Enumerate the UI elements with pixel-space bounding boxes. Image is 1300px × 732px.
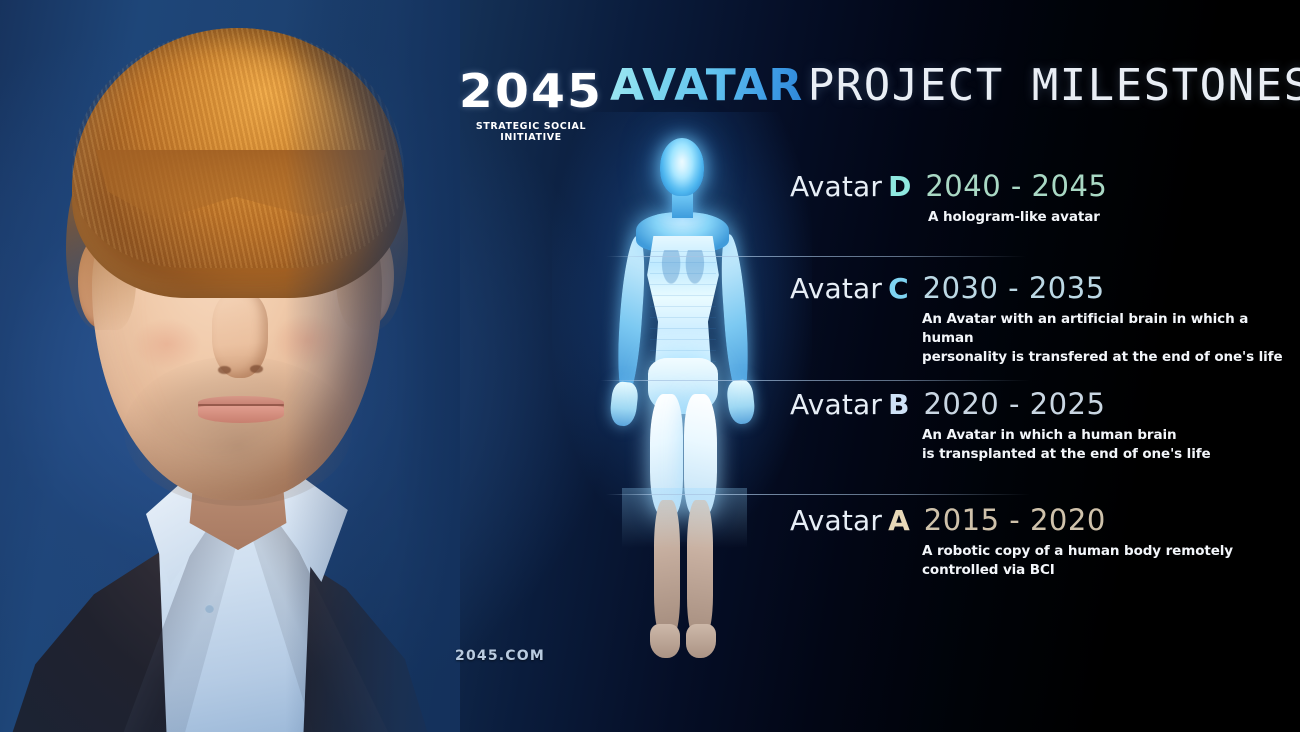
figure-hand-left <box>609 381 639 427</box>
logo-tagline: STRATEGIC SOCIAL INITIATIVE <box>456 121 606 143</box>
milestone-label: Avatar <box>790 170 882 203</box>
milestone-label: Avatar <box>790 272 882 305</box>
milestone-years: 2015 - 2020 <box>924 503 1106 537</box>
milestone-row-avatar-c[interactable]: AvatarC2030 - 2035 An Avatar with an art… <box>790 274 1300 367</box>
divider-line-b-a <box>606 494 1030 495</box>
milestone-row-avatar-b[interactable]: AvatarB2020 - 2025 An Avatar in which a … <box>790 390 1211 464</box>
figure-arm-right <box>718 233 751 398</box>
mouth-line <box>198 404 284 406</box>
figure-hand-right <box>726 379 756 425</box>
figure-torso-anatomy-detail <box>650 250 716 362</box>
nostril-left <box>218 366 231 374</box>
milestone-description: An Avatar with an artificial brain in wh… <box>922 310 1300 367</box>
nostril-right <box>250 365 263 373</box>
stubble-shading <box>124 356 352 506</box>
milestone-key: C <box>888 272 909 305</box>
page-title: AVATAR PROJECT MILESTONES <box>610 60 1300 111</box>
lower-lip <box>198 406 284 423</box>
brand-logo[interactable]: 2045 STRATEGIC SOCIAL INITIATIVE <box>456 68 606 143</box>
milestone-heading: AvatarD2040 - 2045 <box>790 172 1107 201</box>
figure-thigh-right <box>684 394 717 516</box>
milestone-years: 2030 - 2035 <box>923 271 1105 305</box>
logo-mark: 2045 <box>452 68 611 114</box>
milestone-key: A <box>888 504 910 537</box>
divider-line-c-b <box>600 380 1030 381</box>
hair-strand-texture <box>72 28 404 268</box>
figure-arm-left <box>614 235 647 398</box>
milestone-label: Avatar <box>790 388 882 421</box>
shirt-button <box>205 604 214 613</box>
milestone-key: D <box>888 170 911 203</box>
figure-shin-right <box>687 500 713 636</box>
figure-foot-left <box>650 624 680 658</box>
title-rest-words: PROJECT MILESTONES <box>808 60 1300 111</box>
website-url[interactable]: 2045.COM <box>455 648 545 664</box>
milestone-description: A hologram-like avatar <box>928 208 1107 227</box>
figure-face-detail <box>668 154 696 188</box>
figure-shin-left <box>654 500 680 636</box>
header: 2045 STRATEGIC SOCIAL INITIATIVE AVATAR … <box>450 58 1290 148</box>
milestone-years: 2040 - 2045 <box>925 169 1107 203</box>
milestone-years: 2020 - 2025 <box>923 387 1105 421</box>
milestone-row-avatar-a[interactable]: AvatarA2015 - 2020 A robotic copy of a h… <box>790 506 1233 580</box>
human-avatar-body-figure <box>592 132 772 672</box>
milestone-heading: AvatarC2030 - 2035 <box>790 274 1300 303</box>
infographic-canvas: 2045 STRATEGIC SOCIAL INITIATIVE AVATAR … <box>0 0 1300 732</box>
milestone-row-avatar-d[interactable]: AvatarD2040 - 2045 A hologram-like avata… <box>790 172 1107 227</box>
man-portrait <box>0 0 450 732</box>
milestone-key: B <box>888 388 909 421</box>
milestone-label: Avatar <box>790 504 882 537</box>
cheek-right <box>272 314 342 366</box>
milestone-heading: AvatarA2015 - 2020 <box>790 506 1233 535</box>
figure-foot-right <box>686 624 716 658</box>
figure-thigh-left <box>650 394 683 516</box>
milestone-description: An Avatar in which a human brain is tran… <box>922 426 1211 464</box>
milestone-heading: AvatarB2020 - 2025 <box>790 390 1211 419</box>
title-accent-word: AVATAR <box>610 60 803 111</box>
milestone-description: A robotic copy of a human body remotely … <box>922 542 1233 580</box>
divider-line-d-c <box>606 256 1026 257</box>
